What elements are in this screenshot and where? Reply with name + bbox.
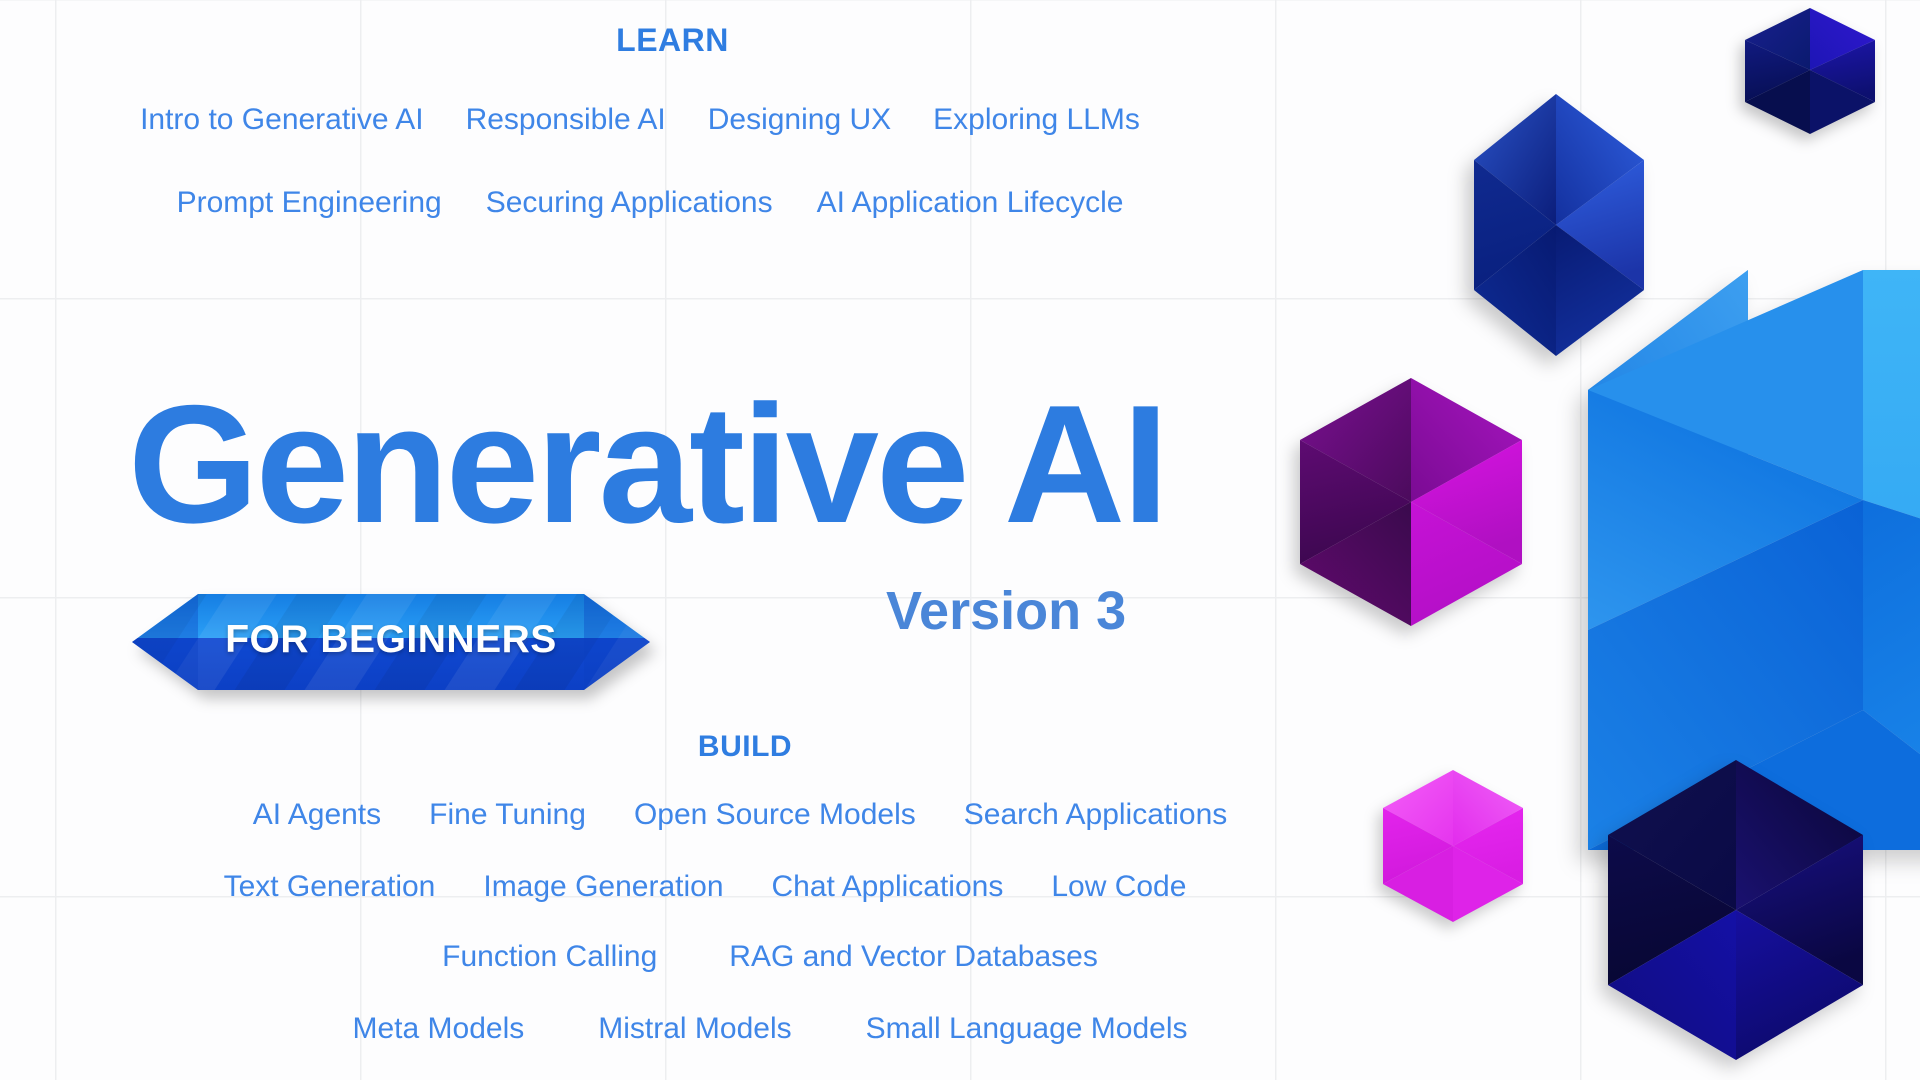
navy-large-cube-top-right — [1474, 94, 1764, 394]
learn-topic-prompt-engineering[interactable]: Prompt Engineering — [177, 188, 442, 218]
ribbon-label: FOR BEGINNERS — [132, 586, 650, 694]
navy-dark-cube-bottom-right — [1608, 760, 1863, 1075]
build-topic-image-generation[interactable]: Image Generation — [483, 872, 723, 902]
build-topic-mistral-models[interactable]: Mistral Models — [598, 1014, 791, 1044]
poster-canvas: LEARN Intro to Generative AI Responsible… — [0, 0, 1920, 1080]
build-topic-ai-agents[interactable]: AI Agents — [253, 800, 381, 830]
build-topic-row-4: Meta Models Mistral Models Small Languag… — [0, 1014, 1540, 1044]
build-topic-row-2: Text Generation Image Generation Chat Ap… — [0, 872, 1410, 902]
build-topic-function-calling[interactable]: Function Calling — [442, 942, 657, 972]
build-topic-low-code[interactable]: Low Code — [1051, 872, 1186, 902]
learn-section-heading: LEARN — [0, 22, 1345, 59]
purple-cube-mid-right — [1300, 378, 1522, 638]
build-topic-row-1: AI Agents Fine Tuning Open Source Models… — [0, 800, 1480, 830]
build-topic-text-generation[interactable]: Text Generation — [224, 872, 436, 902]
build-topic-chat-applications[interactable]: Chat Applications — [772, 872, 1004, 902]
build-topic-fine-tuning[interactable]: Fine Tuning — [429, 800, 586, 830]
learn-topic-ai-application-lifecycle[interactable]: AI Application Lifecycle — [817, 188, 1124, 218]
build-topic-search-applications[interactable]: Search Applications — [964, 800, 1228, 830]
learn-topic-exploring-llms[interactable]: Exploring LLMs — [933, 105, 1140, 135]
build-topic-small-language-models[interactable]: Small Language Models — [866, 1014, 1188, 1044]
build-topic-rag-and-vector-databases[interactable]: RAG and Vector Databases — [729, 942, 1098, 972]
for-beginners-ribbon: FOR BEGINNERS — [132, 586, 650, 694]
learn-topic-responsible-ai[interactable]: Responsible AI — [466, 105, 666, 135]
build-topic-row-3: Function Calling RAG and Vector Database… — [0, 942, 1540, 972]
build-topic-meta-models[interactable]: Meta Models — [353, 1014, 525, 1044]
learn-topic-securing-applications[interactable]: Securing Applications — [486, 188, 773, 218]
learn-topic-row-1: Intro to Generative AI Responsible AI De… — [0, 105, 1280, 135]
learn-topic-row-2: Prompt Engineering Securing Applications… — [0, 188, 1300, 218]
version-label: Version 3 — [886, 580, 1126, 642]
page-title: Generative AI — [128, 380, 1166, 548]
navy-small-cube-top-right — [1745, 8, 1875, 134]
learn-topic-intro-to-generative-ai[interactable]: Intro to Generative AI — [140, 105, 424, 135]
learn-topic-designing-ux[interactable]: Designing UX — [708, 105, 891, 135]
build-section-heading: BUILD — [0, 730, 1490, 764]
magenta-small-cube-bottom-right — [1383, 770, 1523, 930]
build-topic-open-source-models[interactable]: Open Source Models — [634, 800, 916, 830]
